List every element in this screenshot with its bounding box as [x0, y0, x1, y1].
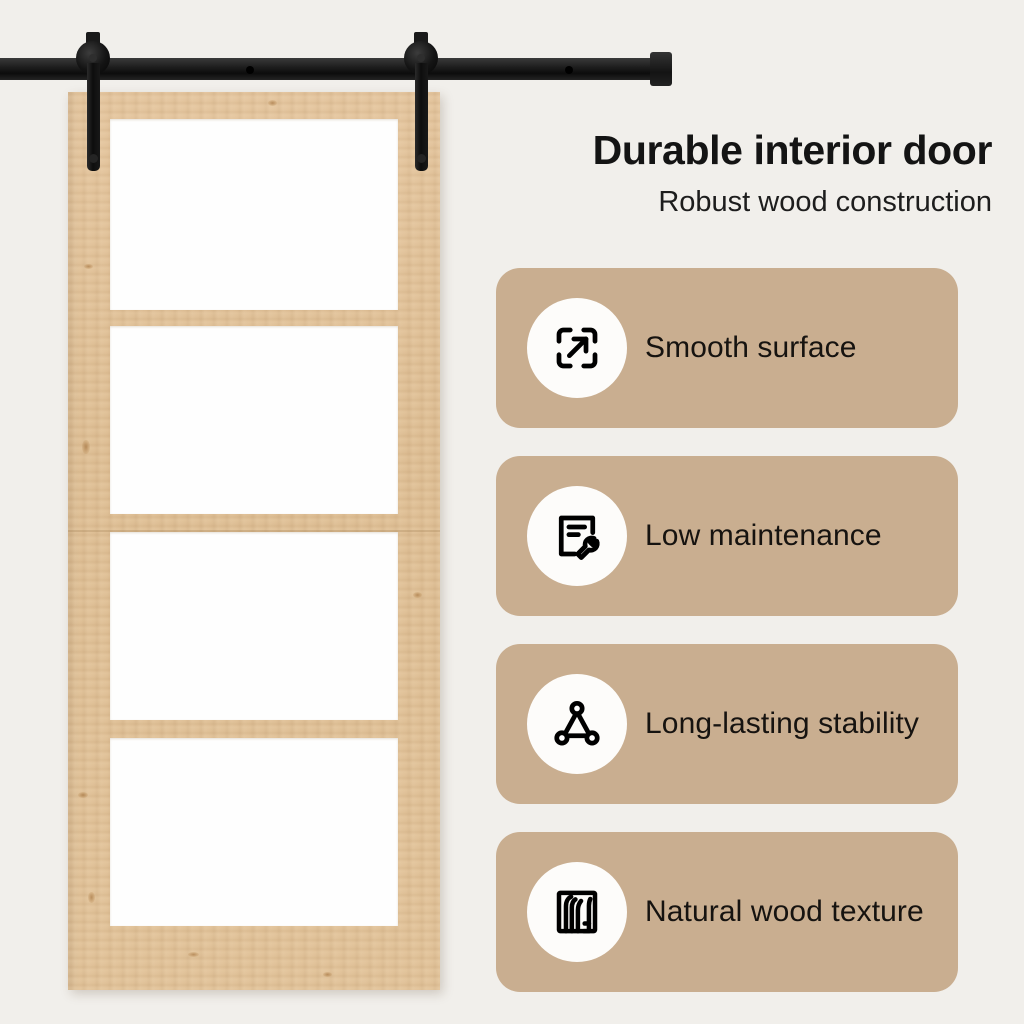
feature-card-smooth-surface[interactable]: Smooth surface — [496, 268, 958, 428]
infographic-canvas: Durable interior door Robust wood constr… — [0, 0, 1024, 1024]
wood-knot — [84, 264, 93, 269]
feature-label: Long-lasting stability — [645, 644, 919, 804]
wood-knot — [323, 972, 332, 977]
rail-bolt — [565, 66, 573, 74]
rail-end-stop — [650, 52, 672, 86]
arrow-out-of-square-icon — [550, 321, 604, 375]
feature-icon-badge — [527, 486, 627, 586]
feature-label: Smooth surface — [645, 268, 857, 428]
page-title: Durable interior door — [496, 128, 992, 172]
glass-pane — [110, 119, 398, 310]
hanger-strap — [87, 63, 100, 171]
document-wrench-icon — [550, 509, 604, 563]
wood-knot — [268, 100, 277, 106]
feature-card-low-maintenance[interactable]: Low maintenance — [496, 456, 958, 616]
wood-knot — [82, 440, 90, 454]
feature-card-list: Smooth surface Low maintenance — [496, 268, 958, 1020]
feature-icon-badge — [527, 674, 627, 774]
wood-grain-icon — [550, 885, 604, 939]
feature-label: Natural wood texture — [645, 832, 924, 992]
feature-label: Low maintenance — [645, 456, 882, 616]
feature-card-natural-wood-texture[interactable]: Natural wood texture — [496, 832, 958, 992]
page-subtitle: Robust wood construction — [470, 185, 992, 220]
feature-icon-badge — [527, 298, 627, 398]
glass-pane — [110, 738, 398, 926]
glass-pane — [110, 326, 398, 514]
feature-icon-badge — [527, 862, 627, 962]
rail-bolt — [246, 66, 254, 74]
wood-knot — [88, 892, 95, 903]
glass-pane — [110, 532, 398, 720]
wood-knot — [78, 792, 88, 798]
feature-card-long-lasting-stability[interactable]: Long-lasting stability — [496, 644, 958, 804]
door-slab — [68, 92, 440, 990]
wood-knot — [413, 592, 422, 598]
product-image — [0, 0, 480, 1024]
wood-knot — [188, 952, 199, 957]
triangle-nodes-icon — [550, 697, 604, 751]
hanger-strap — [415, 63, 428, 171]
